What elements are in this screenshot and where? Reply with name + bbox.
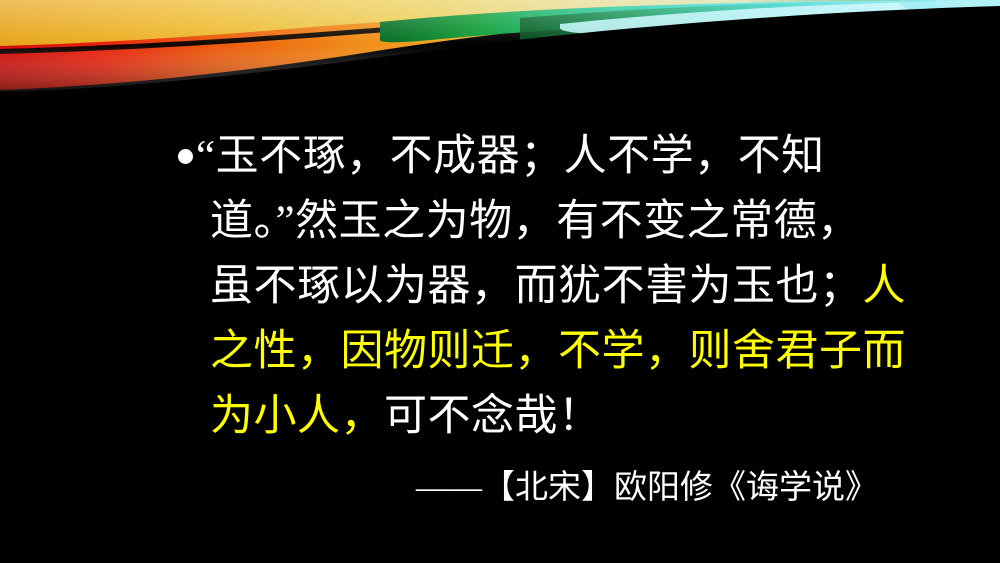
- quote-line-3: 虽不琢以为器，而犹不害为玉也；人: [178, 254, 878, 319]
- quote-text-block: “玉不琢，不成器；人不学，不知 道。”然玉之为物，有不变之常德， 虽不琢以为器，…: [178, 124, 878, 449]
- quote-line-4: 之性，因物则迁，不学，则舍君子而: [178, 319, 878, 384]
- bullet-dot-icon: [178, 149, 193, 164]
- quote-line-3-text-plain: 虽不琢以为器，而犹不害为玉也；: [210, 263, 863, 310]
- quote-line-4-text-highlight: 之性，因物则迁，不学，则舍君子而: [210, 328, 906, 375]
- abstract-light-ribbon-banner: [0, 0, 1000, 100]
- quote-line-1: “玉不琢，不成器；人不学，不知: [178, 124, 878, 189]
- quote-line-5-text-plain: 可不念哉！: [384, 393, 602, 440]
- banner-artwork: [0, 0, 1000, 100]
- attribution-text: ——【北宋】欧阳修《诲学说》: [416, 470, 878, 506]
- quote-line-3-text-highlight: 人: [863, 263, 907, 310]
- slide-canvas: “玉不琢，不成器；人不学，不知 道。”然玉之为物，有不变之常德， 虽不琢以为器，…: [0, 0, 1000, 563]
- quote-line-5: 为小人，可不念哉！: [178, 384, 878, 449]
- quote-attribution: ——【北宋】欧阳修《诲学说》: [178, 464, 956, 512]
- quote-line-2-text: 道。”然玉之为物，有不变之常德，: [210, 198, 861, 245]
- quote-line-2: 道。”然玉之为物，有不变之常德，: [178, 189, 878, 254]
- quote-line-1-text: “玉不琢，不成器；人不学，不知: [196, 133, 825, 180]
- quote-line-5-text-highlight: 为小人，: [210, 393, 384, 440]
